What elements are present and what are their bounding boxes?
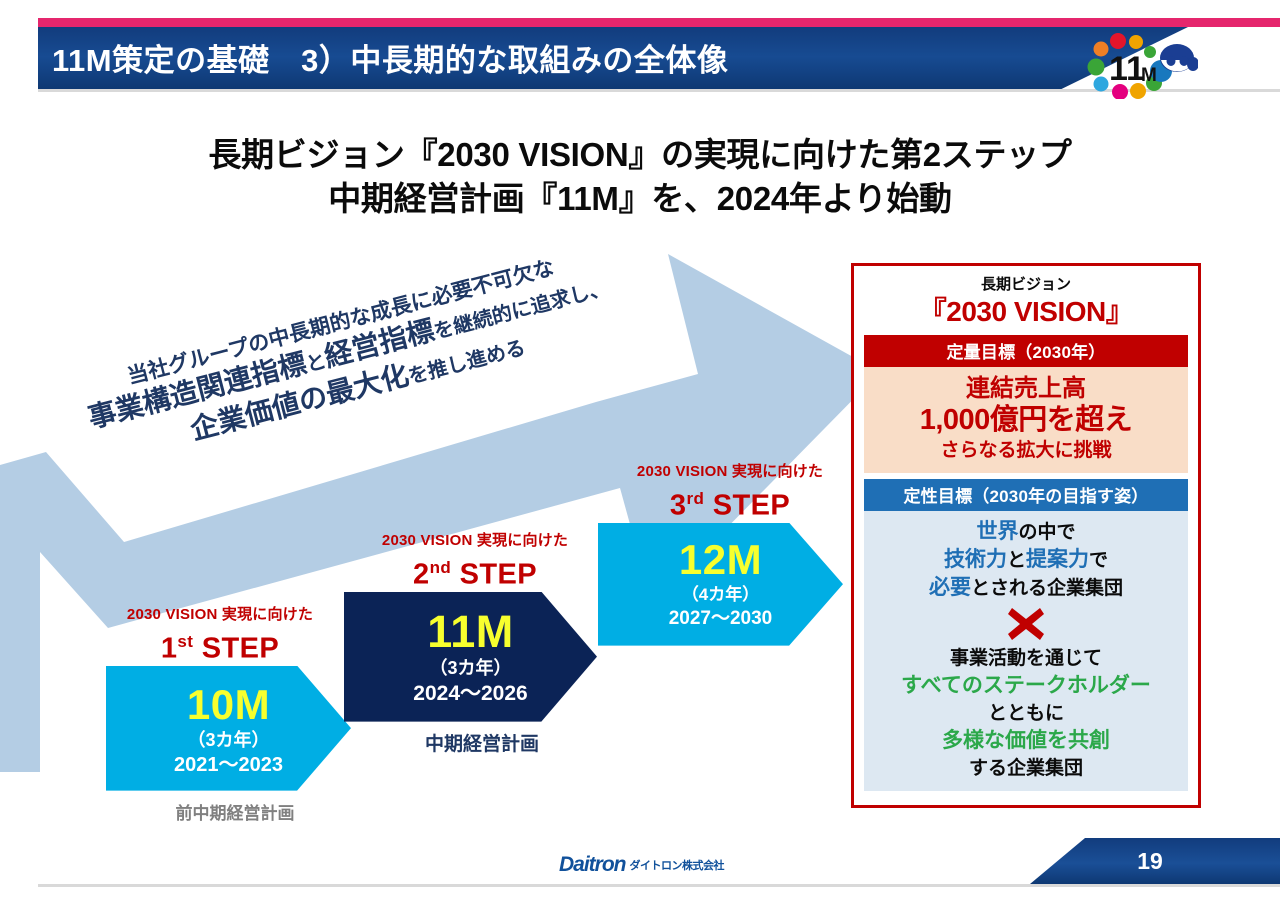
step-3-step-word: STEP [713,490,790,522]
step-1-ordinal-number: 1 [161,633,178,665]
footer-divider [38,884,1280,887]
qualitative-target-section: 定性目標（2030年の目指す姿） 世界の中で 技術力と提案力で 必要とされる企業… [864,479,1188,791]
slide-canvas: 11M策定の基礎 3）中長期的な取組みの全体像 11 M 長期ビジョン『2030… [0,0,1280,905]
step-2-duration: （3カ年） [344,656,597,680]
step-3-ordinal: 3rd STEP [580,482,880,523]
qualitative-b1-line-1: 世界の中で [868,518,1184,546]
quantitative-section-title: 定量目標（2030年） [864,335,1188,367]
quantitative-target-section: 定量目標（2030年） 連結売上高 1,000億円を超え さらなる拡大に挑戦 [864,335,1188,473]
qualitative-b1-l1-b: の中で [1018,522,1075,543]
qualitative-b1-l2-a: 技術力 [944,548,1007,571]
qualitative-b1-l2-d: で [1089,550,1108,571]
quantitative-section-body: 連結売上高 1,000億円を超え さらなる拡大に挑戦 [864,367,1188,473]
brand-name: ダイトロン株式会社 [630,857,725,873]
vision-sub-label: 長期ビジョン [864,274,1188,295]
qualitative-b1-l3-b: とされる企業集団 [971,578,1123,599]
qualitative-section-title: 定性目標（2030年の目指す姿） [864,479,1188,511]
step-group-3: 2030 VISION 実現に向けた 3rd STEP 12M （4カ年） 20… [580,462,880,646]
step-3-plan-name: 12M [598,537,843,583]
11m-logo-icon: 11 M [1076,33,1198,99]
svg-text:11: 11 [1109,50,1145,88]
step-2-ordinal-number: 2 [413,559,430,591]
step-2-plan-name: 11M [344,608,597,656]
step-3-years: 2027〜2030 [598,606,843,631]
step-3-ordinal-suffix: rd [686,489,704,508]
qualitative-section-body: 世界の中で 技術力と提案力で 必要とされる企業集団 事業活動を通じて すべてのス… [864,511,1188,791]
qualitative-b1-line-2: 技術力と提案力で [868,546,1184,574]
red-x-icon [868,605,1184,643]
qualitative-b1-l3-a: 必要 [929,576,971,599]
step-2-ordinal-suffix: nd [430,558,452,577]
qualitative-b2-line-5: する企業集団 [868,755,1184,782]
step-2-step-word: STEP [460,559,537,591]
step-3-ordinal-number: 3 [670,490,687,522]
step-2-chevron: 11M （3カ年） 2024〜2026 [344,592,597,722]
step-3-heading: 2030 VISION 実現に向けた 3rd STEP [580,462,880,523]
step-1-ordinal-suffix: st [177,632,193,651]
qualitative-b2-l4-text: 多様な価値を共創 [942,729,1110,752]
step-3-chevron: 12M （4カ年） 2027〜2030 [598,523,843,646]
vision-title: 『2030 VISION』 [864,295,1188,329]
vision-panel-header: 長期ビジョン 『2030 VISION』 [864,274,1188,329]
qualitative-b1-line-3: 必要とされる企業集団 [868,574,1184,602]
step-3-duration: （4カ年） [598,583,843,606]
slide-headline: 長期ビジョン『2030 VISION』の実現に向けた第2ステップ 中期経営計画『… [0,133,1280,221]
step-2-caption: 中期経営計画 [329,729,635,756]
qualitative-b2-line-1: 事業活動を通じて [868,645,1184,672]
step-3-lead: 2030 VISION 実現に向けた [580,462,880,482]
svg-text:M: M [1141,65,1157,86]
headline-line-1: 長期ビジョン『2030 VISION』の実現に向けた第2ステップ [208,136,1071,173]
qualitative-b1-l1-a: 世界 [976,520,1018,543]
page-title: 11M策定の基礎 3）中長期的な取組みの全体像 [52,40,1052,82]
quantitative-line-3: さらなる拡大に挑戦 [868,438,1184,464]
qualitative-b1-l2-c: 提案力 [1026,548,1089,571]
vision-panel: 長期ビジョン 『2030 VISION』 定量目標（2030年） 連結売上高 1… [851,263,1201,808]
quantitative-line-1: 連結売上高 [868,374,1184,403]
headline-line-2: 中期経営計画『11M』を、2024年より始動 [0,177,1280,221]
qualitative-b2-line-3: とともに [868,700,1184,727]
qualitative-b2-l2-text: すべてのステークホルダー [901,674,1151,697]
header-pink-stripe [38,18,1280,27]
company-logo: Daitron ダイトロン株式会社 [559,855,724,875]
brand-mark: Daitron [559,853,626,877]
quantitative-line-2: 1,000億円を超え [868,403,1184,438]
qualitative-b2-line-4: 多様な価値を共創 [868,727,1184,755]
step-2-years: 2024〜2026 [344,680,597,707]
step-1-step-word: STEP [202,633,279,665]
qualitative-b2-line-2: すべてのステークホルダー [868,672,1184,700]
step-1-caption: 前中期経営計画 [90,799,380,824]
page-number: 19 [1120,848,1180,875]
qualitative-b1-l2-b: と [1007,550,1026,571]
